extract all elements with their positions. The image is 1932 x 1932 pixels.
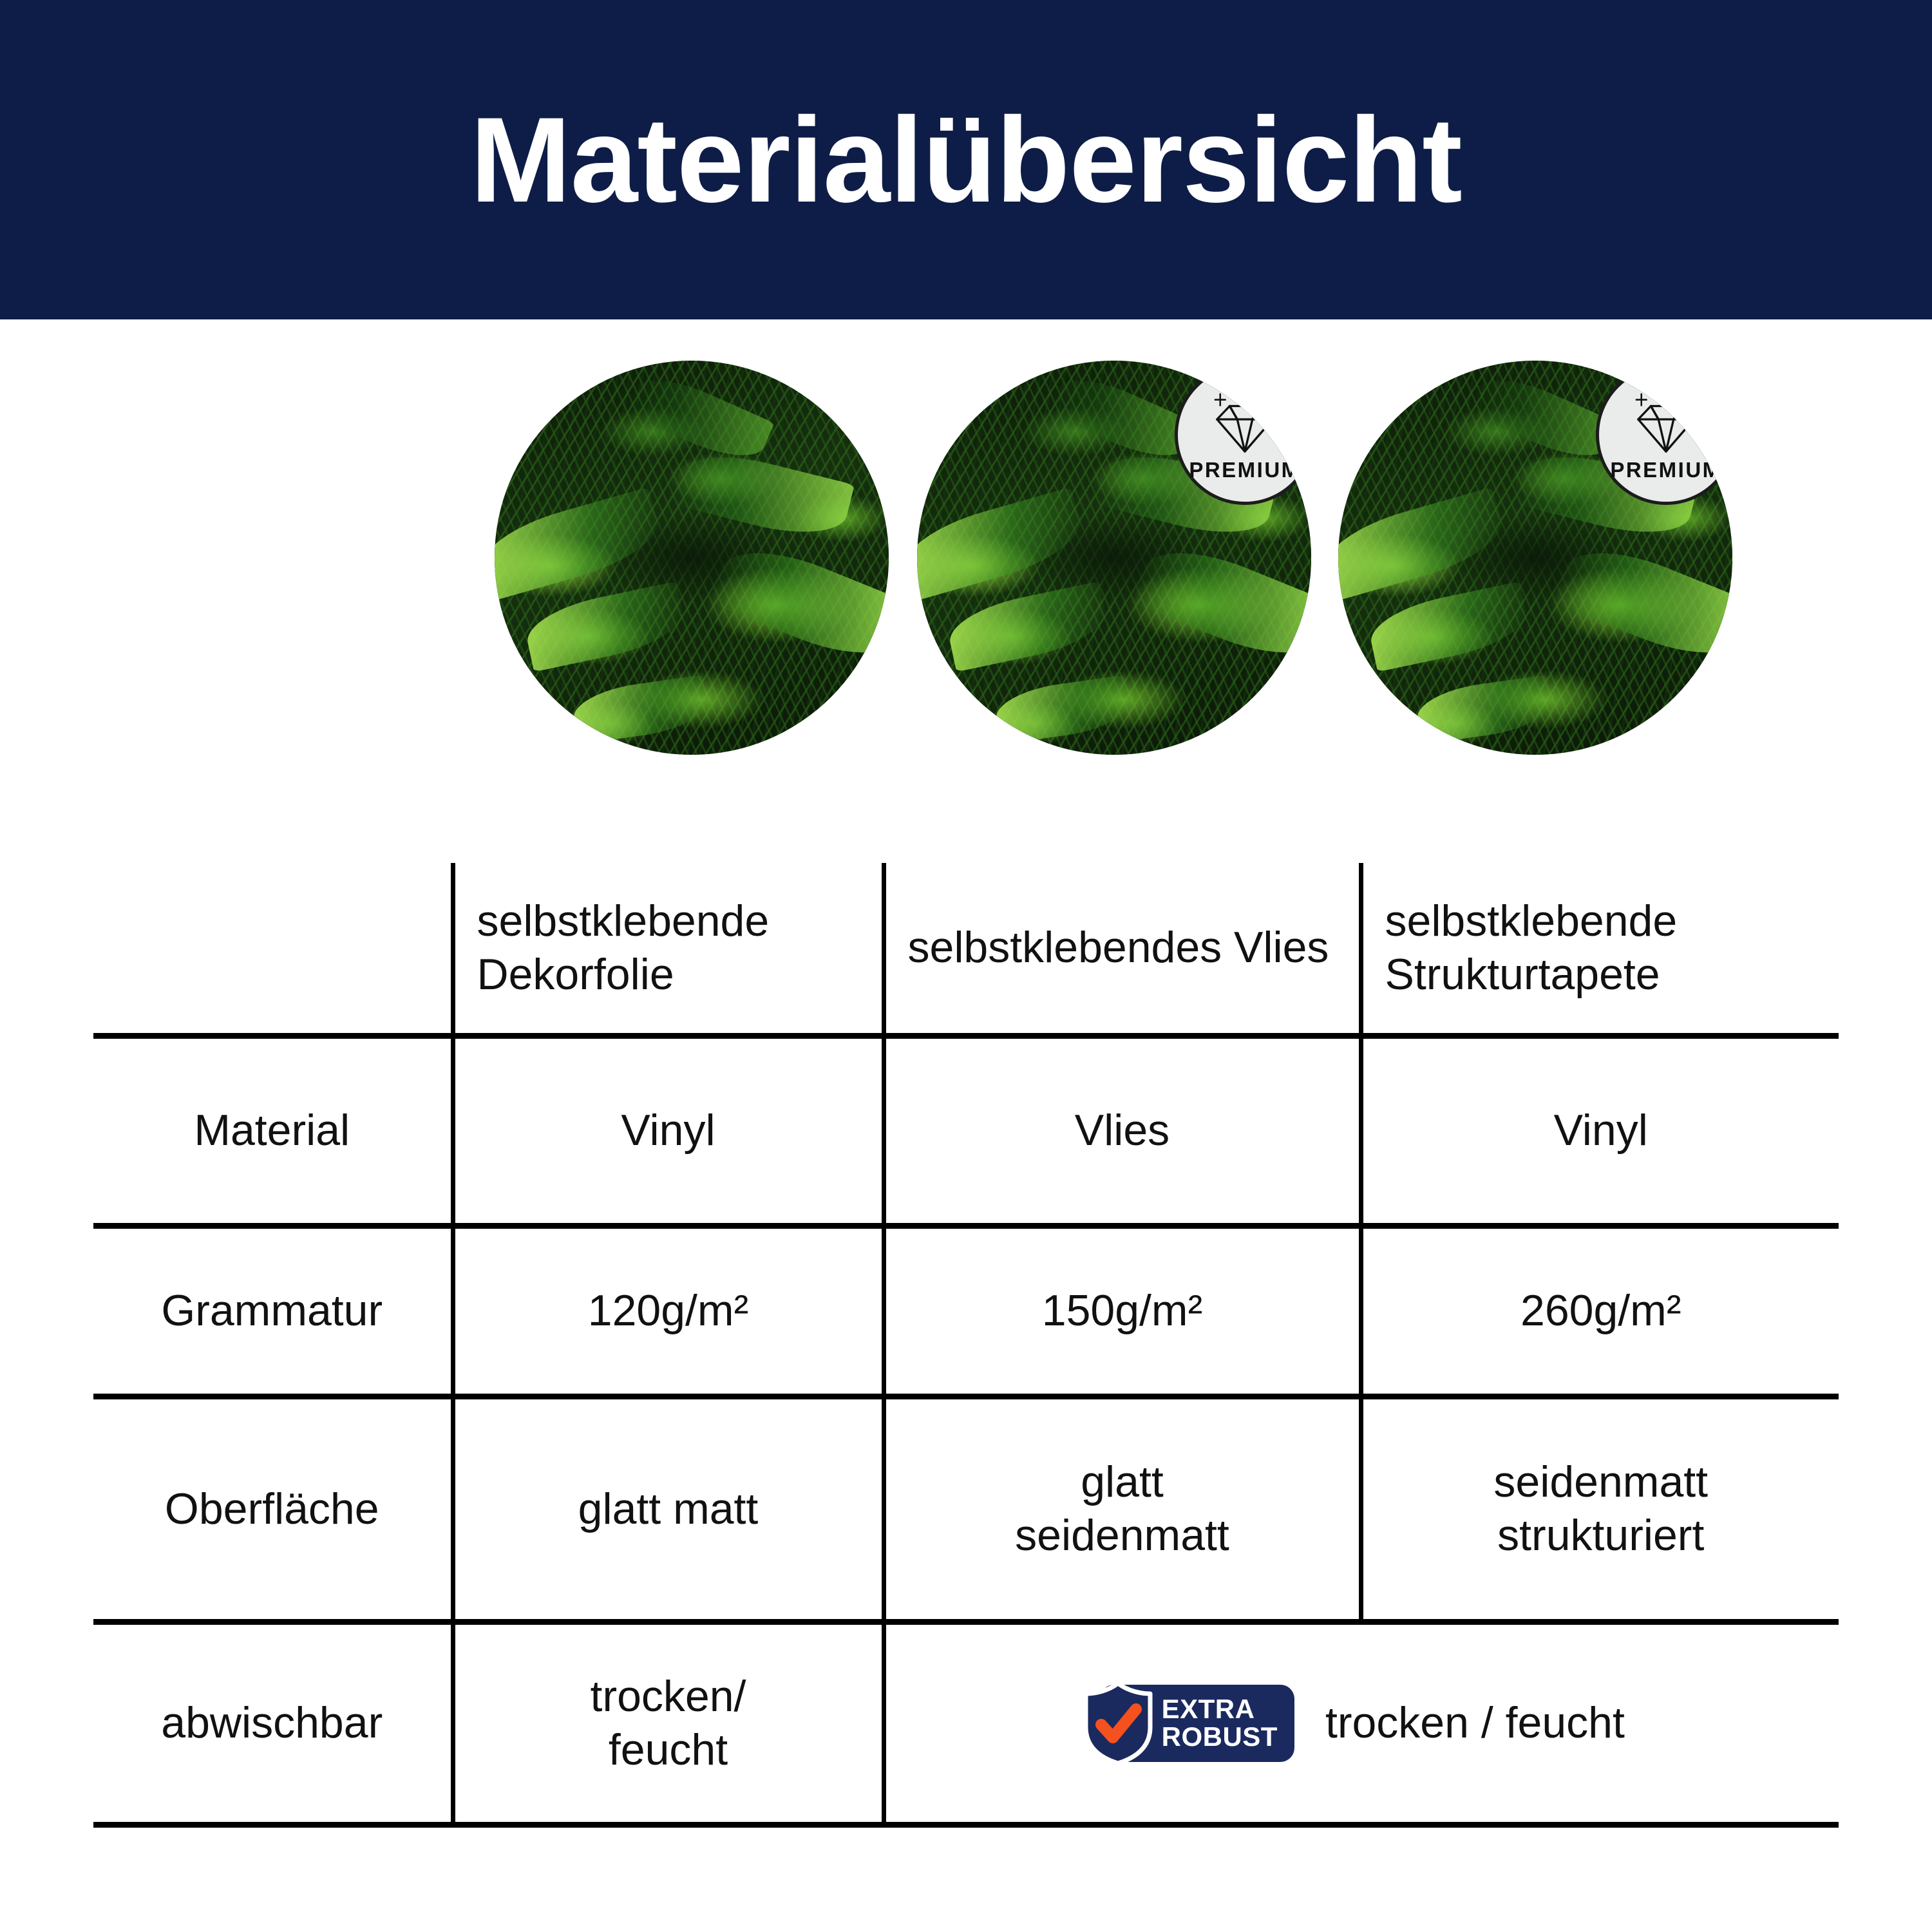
premium-badge: PREMIUM — [1175, 365, 1311, 505]
palm-leaves-photo — [495, 361, 889, 755]
cell-abwischbar-dekorfolie: trocken/feucht — [453, 1622, 884, 1824]
header-cell-vlies: selbstklebendes Vlies — [884, 863, 1361, 1036]
page-title: Materialübersicht — [470, 99, 1462, 220]
diamond-icon — [1628, 390, 1704, 457]
table-row: Grammatur 120g/m² 150g/m² 260g/m² — [93, 1226, 1839, 1396]
cell-grammatur-dekorfolie: 120g/m² — [453, 1226, 884, 1396]
cell-abwischbar-vlies-strukturtapete: EXTRAROBUST trocken / feucht — [884, 1622, 1839, 1824]
cell-oberflaeche-vlies: glattseidenmatt — [884, 1396, 1361, 1622]
premium-badge-label: PREMIUM — [1610, 459, 1721, 480]
row-label-oberflaeche: Oberfläche — [93, 1396, 453, 1622]
table-row: abwischbar trocken/feucht EXTRAROBUST — [93, 1622, 1839, 1824]
header-cell-dekorfolie: selbstklebende Dekorfolie — [453, 863, 884, 1036]
cell-grammatur-vlies: 150g/m² — [884, 1226, 1361, 1396]
row-label-abwischbar: abwischbar — [93, 1622, 453, 1824]
table-row: Oberfläche glatt matt glattseidenmatt se… — [93, 1396, 1839, 1622]
cell-material-dekorfolie: Vinyl — [453, 1036, 884, 1226]
cell-grammatur-strukturtapete: 260g/m² — [1361, 1226, 1839, 1396]
premium-badge: PREMIUM — [1596, 365, 1732, 505]
header-cell-blank — [93, 863, 453, 1036]
table-header-row: selbstklebende Dekorfolie selbstklebende… — [93, 863, 1839, 1036]
page-header-banner: Materialübersicht — [0, 0, 1932, 319]
material-overview-page: Materialübersicht — [0, 0, 1932, 1932]
row-label-grammatur: Grammatur — [93, 1226, 453, 1396]
extra-robust-badge: EXTRAROBUST — [1100, 1685, 1294, 1762]
cell-oberflaeche-strukturtapete: seidenmattstrukturiert — [1361, 1396, 1839, 1622]
swatch-dekorfolie[interactable] — [495, 361, 889, 755]
header-cell-strukturtapete: selbstklebende Strukturtapete — [1361, 863, 1839, 1036]
material-comparison-table: selbstklebende Dekorfolie selbstklebende… — [93, 863, 1839, 1828]
cell-material-vlies: Vlies — [884, 1036, 1361, 1226]
swatch-strukturtapete[interactable]: PREMIUM — [1338, 361, 1732, 755]
table-row: Material Vinyl Vlies Vinyl — [93, 1036, 1839, 1226]
swatch-vlies[interactable]: PREMIUM — [917, 361, 1311, 755]
diamond-icon — [1207, 390, 1283, 457]
extra-robust-label: EXTRAROBUST — [1162, 1696, 1278, 1751]
cell-material-strukturtapete: Vinyl — [1361, 1036, 1839, 1226]
row-label-material: Material — [93, 1036, 453, 1226]
swatch-row: PREMIUM — [0, 361, 1932, 760]
premium-badge-label: PREMIUM — [1189, 459, 1300, 480]
cell-oberflaeche-dekorfolie: glatt matt — [453, 1396, 884, 1622]
abwischbar-merged-text: trocken / feucht — [1325, 1696, 1625, 1750]
shield-check-icon — [1082, 1681, 1154, 1766]
